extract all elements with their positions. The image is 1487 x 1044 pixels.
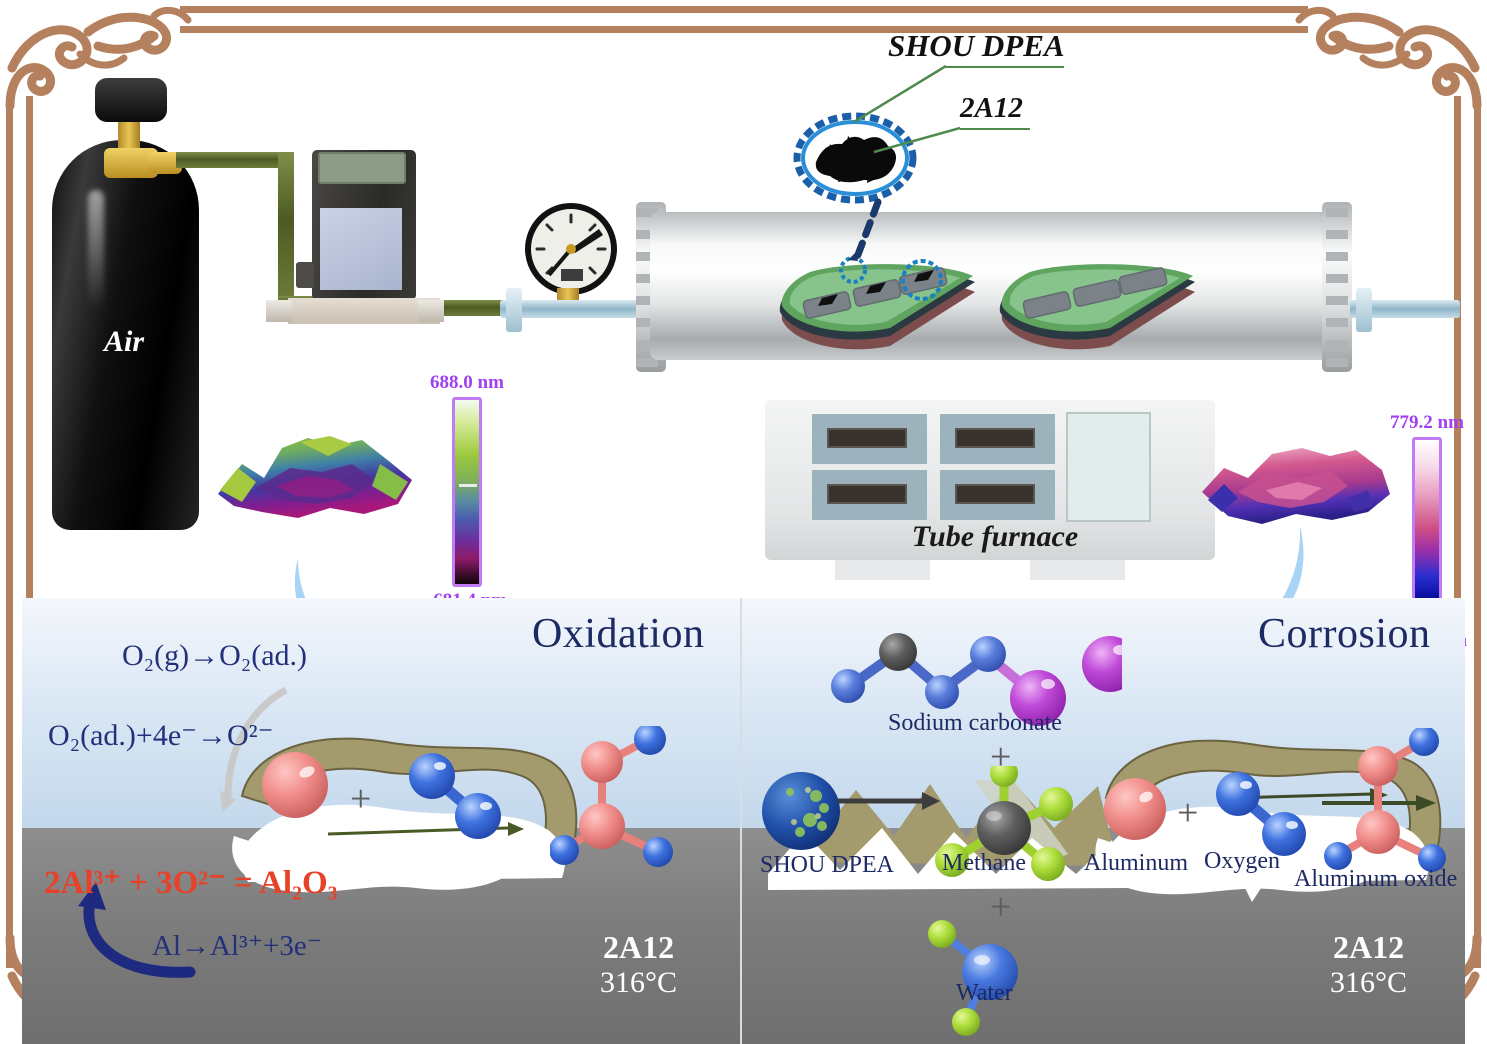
furnace-outlet-collar	[1356, 288, 1372, 332]
flange-studs-right	[1326, 202, 1348, 372]
callout-label-shou-dpea: SHOU DPEA	[888, 28, 1065, 64]
equation-alumina-formation: 2Al³⁺ + 3O²⁻ = Al₂O₃	[44, 862, 338, 902]
equation-aluminium-oxidation: Al→Al³⁺+3e⁻	[152, 928, 322, 963]
gas-cylinder-label: Air	[74, 325, 174, 359]
aluminum-oxide-molecule-icon	[550, 726, 700, 876]
colorbar-left: 688.0 nm -681.4 nm	[414, 372, 520, 612]
shou-dpea-drop-arrow-icon	[836, 198, 896, 288]
furnace-label: Tube furnace	[875, 520, 1115, 554]
furnace-window-panel	[1066, 412, 1151, 522]
sample-boat-icon	[990, 250, 1200, 360]
caption-sodium-carbonate: Sodium carbonate	[888, 710, 1062, 737]
furnace-foot-right	[1030, 560, 1125, 580]
callout-label-2a12: 2A12	[960, 92, 1023, 125]
pipe-segment-top	[176, 152, 294, 168]
frame-top-inner	[180, 26, 1308, 33]
furnace-display-1	[827, 428, 907, 448]
equation-oxygen-adsorption: O₂(g)→O₂(ad.)	[122, 639, 307, 673]
callout-leader-2a12	[868, 126, 964, 156]
colorbar-right-max-label: 779.2 nm	[1374, 412, 1480, 434]
furnace-display-2	[955, 428, 1035, 448]
colorbar-left-gradient	[452, 397, 482, 587]
caption-aluminum: Aluminum	[1084, 850, 1188, 877]
caption-shou-dpea: SHOU DPEA	[760, 852, 894, 879]
equation-oxygen-reduction: O₂(ad.)+4e⁻→O²⁻	[48, 718, 273, 753]
caption-water: Water	[956, 980, 1013, 1007]
callout-underline-shou-dpea	[946, 66, 1064, 68]
caption-aluminum-oxide: Aluminum oxide	[1294, 866, 1457, 893]
callout-underline-2a12	[960, 128, 1030, 130]
furnace-inlet-collar	[506, 288, 522, 332]
aluminum-atom-icon	[1102, 776, 1168, 842]
caption-oxygen: Oxygen	[1204, 848, 1280, 875]
aluminum-oxide-molecule-icon	[1322, 728, 1462, 878]
oxidation-sample-alloy: 2A12	[600, 930, 677, 966]
corrosion-panel-title: Corrosion	[1258, 610, 1431, 658]
colorbar-left-tick	[459, 484, 477, 487]
frame-top-outer	[180, 6, 1308, 13]
frame-left-outer	[6, 96, 13, 968]
panel-divider	[740, 598, 742, 1044]
shou-dpea-particle-sphere-icon	[760, 770, 842, 852]
oxidation-panel-title: Oxidation	[532, 610, 704, 658]
corrosion-sample-temperature: 316°C	[1330, 966, 1407, 1000]
furnace-display-3	[827, 484, 907, 504]
ornament-corner-top-right-icon	[1295, 2, 1485, 112]
afm-surface-left-icon	[212, 428, 422, 540]
colorbar-left-max-label: 688.0 nm	[414, 372, 520, 394]
corrosion-plus-operator-3: +	[1177, 794, 1198, 832]
callout-leader-shou-dpea	[846, 64, 956, 126]
oxygen-molecule-icon	[402, 748, 512, 848]
oxidation-plus-operator: +	[350, 780, 371, 818]
furnace-display-4	[955, 484, 1035, 504]
oxidation-sample-temperature: 316°C	[600, 966, 677, 1000]
furnace-foot-left	[835, 560, 930, 580]
figure-canvas: Air	[0, 0, 1487, 1044]
oxidation-sample-id: 2A12 316°C	[600, 930, 677, 999]
pipe-segment-vertical	[278, 152, 294, 302]
corrosion-sample-alloy: 2A12	[1330, 930, 1407, 966]
corrosion-reaction-arrow-1-icon	[836, 788, 942, 814]
corrosion-sample-id: 2A12 316°C	[1330, 930, 1407, 999]
caption-methane: Methane	[942, 850, 1026, 877]
